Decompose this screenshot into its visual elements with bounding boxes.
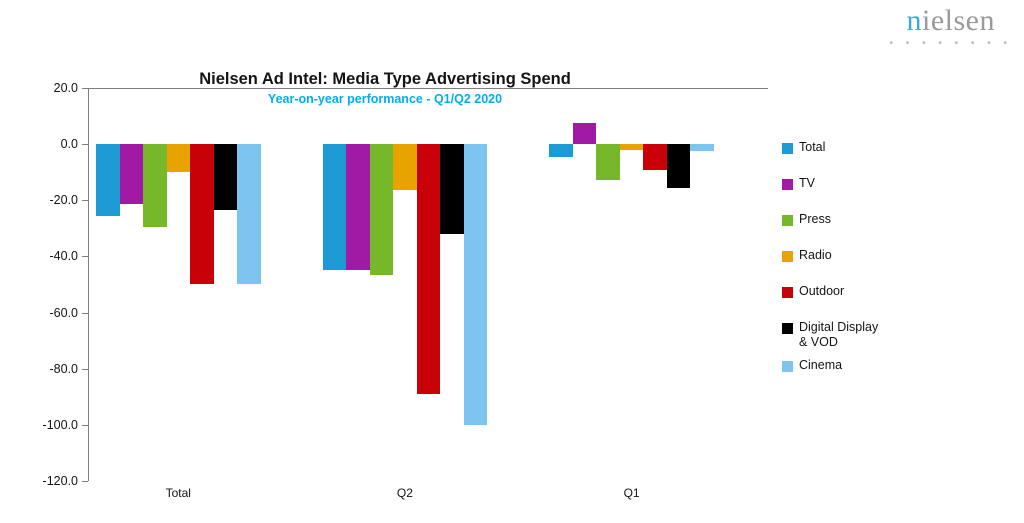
bar-digital-display---vod[interactable] — [214, 144, 238, 210]
legend-label: Total — [799, 140, 825, 155]
chart-legend: TotalTVPressRadioOutdoorDigital Display … — [782, 140, 878, 394]
logo-rest: ielsen — [922, 4, 995, 37]
bar-outdoor[interactable] — [643, 144, 667, 170]
nielsen-wordmark: nielsen — [890, 6, 1012, 36]
legend-item[interactable]: Cinema — [782, 358, 878, 373]
logo-dots: • • • • • • • • — [890, 39, 1012, 49]
y-axis-labels: 20.00.0-20.0-40.0-60.0-80.0-100.0-120.0 — [18, 88, 78, 481]
y-axis-tick — [82, 88, 88, 89]
bar-radio[interactable] — [620, 144, 644, 150]
legend-label: Digital Display & VOD — [799, 320, 878, 350]
y-axis-tick-label: -120.0 — [18, 474, 78, 488]
legend-swatch-icon — [782, 361, 793, 372]
bar-press[interactable] — [370, 144, 394, 275]
y-axis-tick-label: -60.0 — [18, 306, 78, 320]
y-axis-tick-label: -80.0 — [18, 362, 78, 376]
y-axis-tick — [82, 369, 88, 370]
bar-digital-display---vod[interactable] — [667, 144, 691, 188]
legend-item[interactable]: Total — [782, 140, 878, 155]
legend-item[interactable]: Digital Display & VOD — [782, 320, 878, 350]
bar-group — [549, 88, 714, 481]
legend-swatch-icon — [782, 143, 793, 154]
bar-press[interactable] — [143, 144, 167, 227]
bar-cinema[interactable] — [237, 144, 261, 284]
legend-item[interactable]: Press — [782, 212, 878, 227]
y-axis-tick-label: 0.0 — [18, 137, 78, 151]
y-axis-tick-label: -100.0 — [18, 418, 78, 432]
legend-swatch-icon — [782, 251, 793, 262]
legend-swatch-icon — [782, 179, 793, 190]
y-axis-tick-label: 20.0 — [18, 81, 78, 95]
bar-digital-display---vod[interactable] — [440, 144, 464, 234]
bar-radio[interactable] — [393, 144, 417, 190]
bar-total[interactable] — [549, 144, 573, 157]
legend-label: Radio — [799, 248, 832, 263]
y-axis-tick-label: -20.0 — [18, 193, 78, 207]
legend-swatch-icon — [782, 215, 793, 226]
legend-label: Press — [799, 212, 831, 227]
bar-outdoor[interactable] — [190, 144, 214, 284]
y-axis-tick — [82, 144, 88, 145]
bar-cinema[interactable] — [690, 144, 714, 151]
y-axis-line — [88, 88, 89, 481]
bar-total[interactable] — [323, 144, 347, 270]
legend-label: Outdoor — [799, 284, 844, 299]
bar-press[interactable] — [596, 144, 620, 180]
legend-label: TV — [799, 176, 815, 191]
y-axis-tick — [82, 481, 88, 482]
y-axis-tick — [82, 425, 88, 426]
bar-group — [323, 88, 488, 481]
legend-item[interactable]: TV — [782, 176, 878, 191]
bar-tv[interactable] — [120, 144, 144, 204]
legend-label: Cinema — [799, 358, 842, 373]
x-axis-tick-label: Q2 — [397, 486, 413, 500]
bar-total[interactable] — [96, 144, 120, 216]
legend-item[interactable]: Radio — [782, 248, 878, 263]
bar-tv[interactable] — [573, 123, 597, 144]
plot-area: 20.00.0-20.0-40.0-60.0-80.0-100.0-120.0 … — [88, 88, 768, 481]
y-axis-tick-label: -40.0 — [18, 249, 78, 263]
chart-title: Nielsen Ad Intel: Media Type Advertising… — [0, 70, 770, 89]
legend-swatch-icon — [782, 323, 793, 334]
logo-first-letter: n — [907, 4, 923, 37]
y-axis-tick — [82, 200, 88, 201]
nielsen-logo: nielsen • • • • • • • • — [890, 6, 1012, 49]
bar-cinema[interactable] — [464, 144, 488, 425]
y-axis-tick — [82, 256, 88, 257]
x-axis-tick-label: Q1 — [624, 486, 640, 500]
legend-item[interactable]: Outdoor — [782, 284, 878, 299]
y-axis-tick — [82, 313, 88, 314]
bar-group — [96, 88, 261, 481]
bar-radio[interactable] — [167, 144, 191, 172]
bar-outdoor[interactable] — [417, 144, 441, 394]
x-axis-tick-label: Total — [166, 486, 191, 500]
bar-tv[interactable] — [346, 144, 370, 270]
legend-swatch-icon — [782, 287, 793, 298]
